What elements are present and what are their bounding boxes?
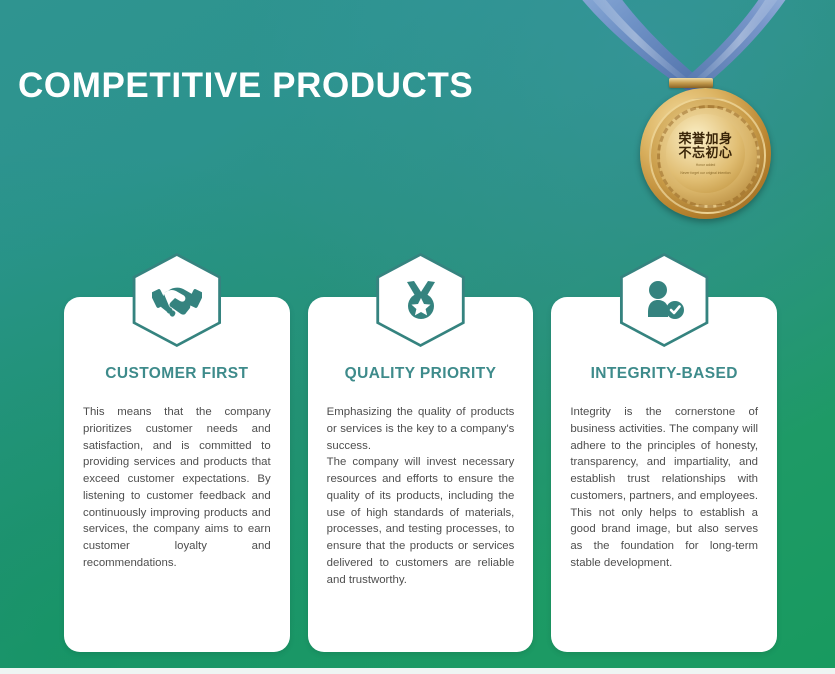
medal-english-line-1: Honor added [696, 163, 716, 167]
card-paragraph: Integrity is the cornerstone of business… [570, 404, 758, 572]
bottom-strip [0, 668, 835, 674]
slide-root: 荣誉加身 不忘初心 Honor added Never forget our o… [0, 0, 835, 674]
medal-chinese-line-1: 荣誉加身 [678, 132, 732, 146]
card-integrity-based[interactable]: INTEGRITY-BASED Integrity is the corners… [551, 297, 777, 652]
medal-star-icon [374, 253, 468, 347]
card-paragraph: This means that the company prioritizes … [83, 404, 271, 572]
card-title: CUSTOMER FIRST [83, 365, 271, 383]
medal-disc: 荣誉加身 不忘初心 Honor added Never forget our o… [640, 88, 771, 219]
handshake-icon [130, 253, 224, 347]
card-paragraph: The company will invest necessary resour… [327, 454, 515, 588]
card-body: This means that the company prioritizes … [83, 404, 271, 572]
card-customer-first[interactable]: CUSTOMER FIRST This means that the compa… [64, 297, 290, 652]
page-title: COMPETITIVE PRODUCTS [18, 68, 473, 103]
card-body: Integrity is the cornerstone of business… [570, 404, 758, 572]
hex-badge-quality-priority [374, 253, 468, 347]
card-body: Emphasizing the quality of products or s… [327, 404, 515, 588]
medal-face: 荣誉加身 不忘初心 Honor added Never forget our o… [666, 114, 745, 193]
medal-english-line-2: Never forget our original intention [680, 171, 730, 175]
medal-chinese-line-2: 不忘初心 [678, 146, 732, 160]
card-quality-priority[interactable]: QUALITY PRIORITY Emphasizing the quality… [308, 297, 534, 652]
card-paragraph: Emphasizing the quality of products or s… [327, 404, 515, 454]
hex-badge-customer-first [130, 253, 224, 347]
hex-badge-integrity-based [617, 253, 711, 347]
verified-person-icon [617, 253, 711, 347]
medal-clasp [669, 78, 713, 88]
card-title: QUALITY PRIORITY [327, 365, 515, 383]
award-medal-graphic: 荣誉加身 不忘初心 Honor added Never forget our o… [557, 0, 835, 230]
cards-container: CUSTOMER FIRST This means that the compa… [64, 297, 777, 652]
card-title: INTEGRITY-BASED [570, 365, 758, 383]
